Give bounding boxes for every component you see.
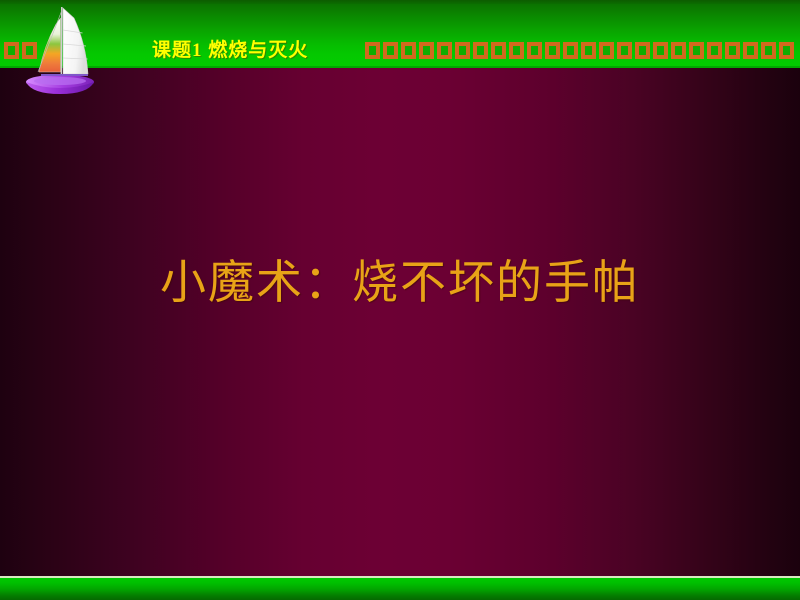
decor-square bbox=[365, 42, 380, 59]
decor-square bbox=[581, 42, 596, 59]
decor-square bbox=[383, 42, 398, 59]
decor-square bbox=[473, 42, 488, 59]
header-top-edge bbox=[0, 0, 800, 4]
slide-main-title: 小魔术：烧不坏的手帕 bbox=[0, 246, 800, 312]
decor-square bbox=[617, 42, 632, 59]
decor-square bbox=[455, 42, 470, 59]
decor-square bbox=[653, 42, 668, 59]
decor-square bbox=[779, 42, 794, 59]
header-bottom-edge bbox=[0, 66, 800, 68]
decor-square bbox=[437, 42, 452, 59]
decor-squares-middle bbox=[365, 42, 758, 60]
decor-square bbox=[725, 42, 740, 59]
decor-square bbox=[635, 42, 650, 59]
decor-square bbox=[761, 42, 776, 59]
presentation-slide: 课题1 燃烧与灭火 bbox=[0, 0, 800, 600]
decor-square bbox=[401, 42, 416, 59]
decor-square bbox=[563, 42, 578, 59]
decor-square bbox=[491, 42, 506, 59]
slide-header-bar: 课题1 燃烧与灭火 bbox=[0, 0, 800, 68]
decor-square bbox=[545, 42, 560, 59]
decor-square bbox=[419, 42, 434, 59]
slide-footer-bar bbox=[0, 578, 800, 600]
decor-square bbox=[689, 42, 704, 59]
decor-square bbox=[743, 42, 758, 59]
decor-square bbox=[707, 42, 722, 59]
sailboat-icon bbox=[12, 4, 96, 100]
decor-square bbox=[509, 42, 524, 59]
decor-square bbox=[527, 42, 542, 59]
slide-header-title: 课题1 燃烧与灭火 bbox=[152, 38, 308, 64]
decor-square bbox=[599, 42, 614, 59]
decor-square bbox=[671, 42, 686, 59]
decor-squares-right bbox=[761, 42, 794, 60]
